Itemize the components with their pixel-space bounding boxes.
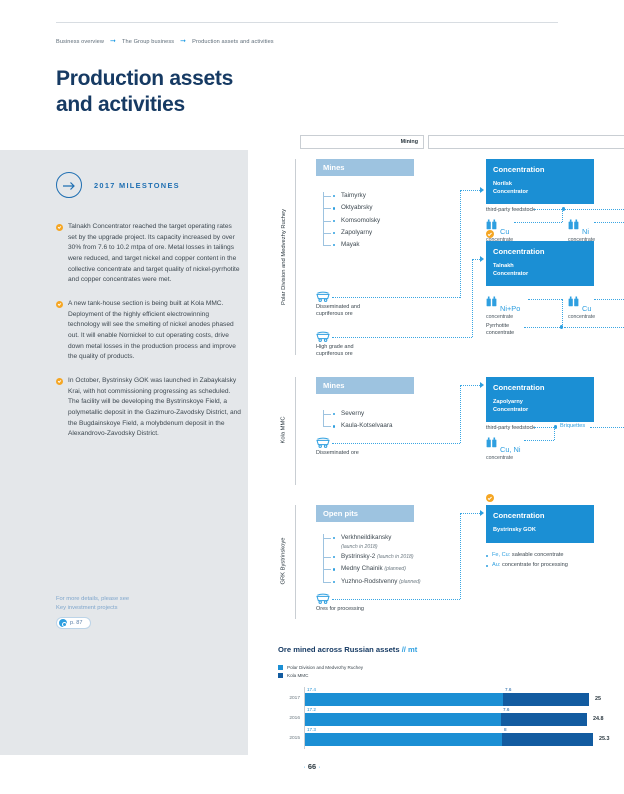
- stacked-bar: [305, 733, 593, 746]
- mines-list: Taimyrky Oktyabrsky Komsomolsky Zapolyar…: [316, 190, 416, 251]
- milestone-text: In October, Bystrinsky GOK was launched …: [68, 376, 242, 440]
- open-pits-list: Verkhneildikansky (launch in 2018) Bystr…: [316, 532, 448, 588]
- concentrator-card-zapolyarny: Concentration Zapolyarny Concentrator: [486, 377, 594, 422]
- list-item: Zapolyarny: [323, 227, 416, 239]
- output-caption: concentrate: [486, 314, 520, 320]
- connector-line: [524, 327, 562, 328]
- pit-note: (planned): [384, 566, 406, 572]
- feedstock-label-norilsk: third-party feedstock: [486, 207, 535, 213]
- output-nipo-talnakh: Ni+Po concentrate: [486, 294, 520, 320]
- band-label-text: Kola MMC: [281, 416, 287, 443]
- chart-unit: // mt: [402, 645, 418, 654]
- arrow-right-icon: ➞: [180, 38, 186, 45]
- bystrinsky-products: Fe, Cu: saleable concentrate Au: concent…: [486, 551, 624, 570]
- connector-line: [564, 327, 624, 328]
- connector-line: [528, 299, 562, 300]
- product-text: concentrate for processing: [500, 562, 567, 568]
- diagram-header-row: Mining: [300, 135, 624, 151]
- connector-arrow-icon: [480, 187, 484, 193]
- bar-segment-polar: [305, 693, 503, 706]
- output-metal-name: Cu, Ni: [500, 446, 521, 453]
- chart-category-label: 2015: [278, 736, 300, 741]
- diagram-header-next: [428, 135, 624, 149]
- concentrator-subtitle: Bystrinsky GOK: [493, 527, 587, 535]
- ore-stream-bystrinskoye: Ores for processing: [316, 593, 406, 613]
- list-item: In October, Bystrinsky GOK was launched …: [56, 376, 242, 440]
- check-circle-icon: [56, 378, 63, 385]
- document-page: Business overview ➞ The Group business ➞…: [0, 0, 624, 794]
- mines-list: Severny Kaula-Kotselvaara: [316, 408, 424, 433]
- ore-caption: Disseminated and cupriferous ore: [316, 304, 396, 319]
- bar-total: 24.8: [593, 716, 604, 722]
- briquettes-label: Briquettes: [560, 423, 585, 429]
- concentrate-flask-icon: [568, 217, 580, 235]
- bar-value-kola: 8: [502, 727, 507, 732]
- legend-swatch: [278, 665, 283, 670]
- arrow-right-icon: ➞: [110, 38, 116, 45]
- connector-line: [460, 513, 480, 514]
- ore-caption: Ores for processing: [316, 606, 406, 613]
- bar-value-kola: 7.6: [503, 687, 511, 692]
- production-flow-diagram: Mining Polar Division and Medvezhy Ruche…: [276, 135, 624, 625]
- list-item: Kaula-Kotselvaara: [323, 420, 424, 432]
- concentrator-title: Concentration: [493, 247, 587, 256]
- product-key: Fe, Cu:: [492, 552, 510, 558]
- output-metal-name: Ni+Po: [500, 305, 520, 312]
- connector-line: [562, 209, 563, 222]
- mine-name: Severny: [341, 410, 364, 417]
- pit-note: (planned): [399, 579, 421, 585]
- connector-line: [564, 209, 624, 210]
- ore-cart-icon: [316, 331, 330, 342]
- mine-name: Zapolyarny: [341, 229, 372, 236]
- pit-note: (launch in 2018): [341, 544, 378, 550]
- page-reference-label: p. 87: [70, 620, 82, 626]
- ore-cart-icon: [316, 593, 330, 604]
- band-label-polar: Polar Division and Medvezhy Ruchey: [276, 151, 292, 363]
- milestone-text: A new tank-house section is being built …: [68, 299, 242, 363]
- pit-name: Medny Chainik: [341, 565, 383, 572]
- mine-name: Kaula-Kotselvaara: [341, 422, 392, 429]
- pyrrhotite-label: Pyrrhotite concentrate: [486, 323, 514, 338]
- mine-name: Mayak: [341, 241, 360, 248]
- ore-stream-disseminated: Disseminated and cupriferous ore: [316, 291, 396, 319]
- open-pits-heading: Open pits: [316, 505, 414, 522]
- legend-label: Polar Division and Medvezhy Ruchey: [287, 665, 363, 670]
- concentrate-flask-icon: [486, 294, 498, 312]
- band-divider: [295, 159, 296, 355]
- connector-line: [524, 440, 554, 441]
- connector-line: [332, 297, 460, 298]
- chart-title: Ore mined across Russian assets // mt: [278, 645, 624, 654]
- output-caption: concentrate: [568, 314, 595, 320]
- band-divider: [295, 505, 296, 619]
- output-metal-name: Cu: [500, 228, 509, 235]
- list-item: Komsomolsky: [323, 215, 416, 227]
- diagram-header-mining: Mining: [300, 135, 424, 149]
- connector-line: [594, 299, 624, 300]
- connector-line: [332, 443, 460, 444]
- ore-caption: High grade and cupriferous ore: [316, 344, 396, 359]
- pit-name: Bystrinsky-2: [341, 553, 375, 560]
- bar-segment-kola: [502, 733, 593, 746]
- pit-name: Verkhneildikansky: [341, 534, 391, 541]
- breadcrumb-item-1[interactable]: Business overview: [56, 39, 104, 45]
- bar-value-polar: 17.2: [305, 707, 316, 712]
- list-item: Yuzhno-Rodstvenny (planned): [323, 576, 448, 588]
- list-item: A new tank-house section is being built …: [56, 299, 242, 363]
- bar-segment-polar: [305, 713, 501, 726]
- check-circle-icon: [56, 301, 63, 308]
- concentrate-flask-icon: [568, 294, 580, 312]
- connector-line: [554, 427, 555, 440]
- connector-line: [332, 599, 460, 600]
- concentrator-card-talnakh: Concentration Talnakh Concentrator: [486, 241, 594, 286]
- link-icon: [59, 619, 67, 627]
- cross-reference-note: For more details, please see Key investm…: [56, 595, 129, 612]
- page-reference-chip[interactable]: p. 87: [56, 617, 91, 629]
- concentrator-card-bystrinsky: Concentration Bystrinsky GOK: [486, 505, 594, 543]
- concentrator-subtitle: Zapolyarny Concentrator: [493, 399, 587, 414]
- list-item: Mayak: [323, 239, 416, 251]
- list-item: Taimyrky: [323, 190, 416, 202]
- product-text: saleable concentrate: [510, 552, 563, 558]
- diagram-band-polar: Polar Division and Medvezhy Ruchey Mines…: [276, 151, 624, 363]
- mine-name: Taimyrky: [341, 192, 366, 199]
- list-item: Oktyabrsky: [323, 202, 416, 214]
- bar-segment-polar: [305, 733, 502, 746]
- connector-line: [332, 337, 472, 338]
- concentrator-title: Concentration: [493, 383, 587, 392]
- output-metal-name: Ni: [582, 228, 589, 235]
- chart-bar-row: 2015 17.3 8 25.3: [278, 727, 624, 747]
- mine-name: Komsomolsky: [341, 217, 380, 224]
- milestone-text: Talnakh Concentrator reached the target …: [68, 222, 242, 286]
- connector-line: [534, 209, 564, 210]
- header-divider: [56, 22, 558, 23]
- connector-line: [590, 427, 624, 428]
- footer-dot-right: ·: [318, 762, 320, 771]
- check-circle-icon: [56, 224, 63, 231]
- legend-item: Kola MMC: [278, 673, 624, 678]
- breadcrumb-item-2[interactable]: The Group business: [122, 39, 174, 45]
- connector-line: [460, 190, 480, 191]
- mines-heading: Mines: [316, 159, 414, 176]
- legend-label: Kola MMC: [287, 673, 308, 678]
- diagram-band-bystrinskoye: GRK Bystrinskoye Open pits Verkhneildika…: [276, 497, 624, 625]
- mines-heading: Mines: [316, 377, 414, 394]
- connector-node: [560, 325, 563, 328]
- list-item: Severny: [323, 408, 424, 420]
- connector-arrow-icon: [480, 382, 484, 388]
- connector-line: [514, 222, 562, 223]
- connector-line: [460, 513, 461, 599]
- band-label-kola: Kola MMC: [276, 369, 292, 491]
- ore-caption: Disseminated ore: [316, 450, 396, 457]
- milestones-heading: 2017 MILESTONES: [94, 181, 180, 190]
- band-divider: [295, 377, 296, 485]
- connector-arrow-icon: [480, 256, 484, 262]
- stacked-bar: [305, 693, 589, 706]
- connector-line: [460, 385, 480, 386]
- ore-cart-icon: [316, 291, 330, 302]
- bar-value-kola: 7.6: [501, 707, 509, 712]
- connector-arrow-icon: [480, 510, 484, 516]
- bar-value-polar: 17.4: [305, 687, 316, 692]
- ore-stream-disseminated-kola: Disseminated ore: [316, 437, 396, 457]
- list-item: Medny Chainik (planned): [323, 563, 448, 575]
- connector-line: [460, 385, 461, 443]
- list-item: Fe, Cu: saleable concentrate: [486, 551, 624, 561]
- connector-line: [472, 259, 473, 337]
- output-caption: concentrate: [486, 455, 521, 461]
- bar-total: 25: [595, 696, 601, 702]
- list-item: Verkhneildikansky (launch in 2018): [323, 532, 448, 551]
- concentrator-subtitle: Talnakh Concentrator: [493, 263, 587, 278]
- milestones-list: Talnakh Concentrator reached the target …: [56, 222, 242, 453]
- milestones-header: 2017 MILESTONES: [56, 172, 180, 198]
- chart-title-text: Ore mined across Russian assets: [278, 645, 400, 654]
- chart-bar-row: 2017 17.4 7.6 25: [278, 687, 624, 707]
- bar-total: 25.3: [599, 736, 610, 742]
- pit-note: (launch in 2018): [377, 554, 414, 560]
- chart-legend: Polar Division and Medvezhy Ruchey Kola …: [278, 665, 624, 678]
- output-metal-name: Cu: [582, 305, 591, 312]
- band-label-text: GRK Bystrinskoye: [281, 537, 287, 584]
- arrow-circle-right-icon: [56, 172, 82, 198]
- bar-segment-kola: [503, 693, 589, 706]
- output-cu-talnakh: Cu concentrate: [568, 294, 595, 320]
- list-item: Bystrinsky-2 (launch in 2018): [323, 551, 448, 563]
- milestone-check-icon: [486, 230, 494, 238]
- pit-name: Yuzhno-Rodstvenny: [341, 578, 397, 585]
- stacked-bar: [305, 713, 587, 726]
- connector-line: [472, 259, 480, 260]
- connector-line: [594, 222, 624, 223]
- mine-name: Oktyabrsky: [341, 204, 373, 211]
- page-title: Production assets and activities: [56, 66, 316, 117]
- page-number: 66: [308, 762, 316, 771]
- chart-plot-area: 2017 17.4 7.6 25 2016 17.2 7.6 24.8: [278, 687, 624, 749]
- breadcrumb-item-3: Production assets and activities: [192, 39, 274, 45]
- breadcrumb: Business overview ➞ The Group business ➞…: [56, 38, 274, 45]
- bar-value-polar: 17.3: [305, 727, 316, 732]
- legend-swatch: [278, 673, 283, 678]
- feedstock-label-zapolyarny: third-party feedstock: [486, 425, 535, 431]
- list-item: Au: concentrate for processing: [486, 561, 624, 571]
- concentrate-flask-icon: [486, 435, 498, 453]
- band-label-text: Polar Division and Medvezhy Ruchey: [281, 209, 287, 305]
- ore-stream-highgrade: High grade and cupriferous ore: [316, 331, 396, 359]
- chart-category-label: 2017: [278, 696, 300, 701]
- chart-bar-row: 2016 17.2 7.6 24.8: [278, 707, 624, 727]
- output-ni-norilsk: Ni concentrate: [568, 217, 595, 243]
- page-footer: · 66 ·: [0, 762, 624, 771]
- legend-item: Polar Division and Medvezhy Ruchey: [278, 665, 624, 670]
- chart-category-label: 2016: [278, 716, 300, 721]
- concentrator-title: Concentration: [493, 511, 587, 520]
- bar-segment-kola: [501, 713, 587, 726]
- connector-line: [460, 190, 461, 298]
- connector-line: [562, 299, 563, 327]
- diagram-band-kola: Kola MMC Mines Severny Kaula-Kotselvaara: [276, 369, 624, 491]
- connector-line: [534, 427, 556, 428]
- band-label-bystrinskoye: GRK Bystrinskoye: [276, 497, 292, 625]
- milestone-check-icon: [486, 494, 494, 502]
- concentrator-title: Concentration: [493, 165, 587, 174]
- concentrator-subtitle: Norilsk Concentrator: [493, 181, 587, 196]
- output-cuni-zapolyarny: Cu, Ni concentrate: [486, 435, 521, 461]
- ore-mined-chart: Ore mined across Russian assets // mt Po…: [278, 645, 624, 749]
- ore-cart-icon: [316, 437, 330, 448]
- concentrator-card-norilsk: Concentration Norilsk Concentrator: [486, 159, 594, 204]
- list-item: Talnakh Concentrator reached the target …: [56, 222, 242, 286]
- footer-dot-left: ·: [303, 762, 305, 771]
